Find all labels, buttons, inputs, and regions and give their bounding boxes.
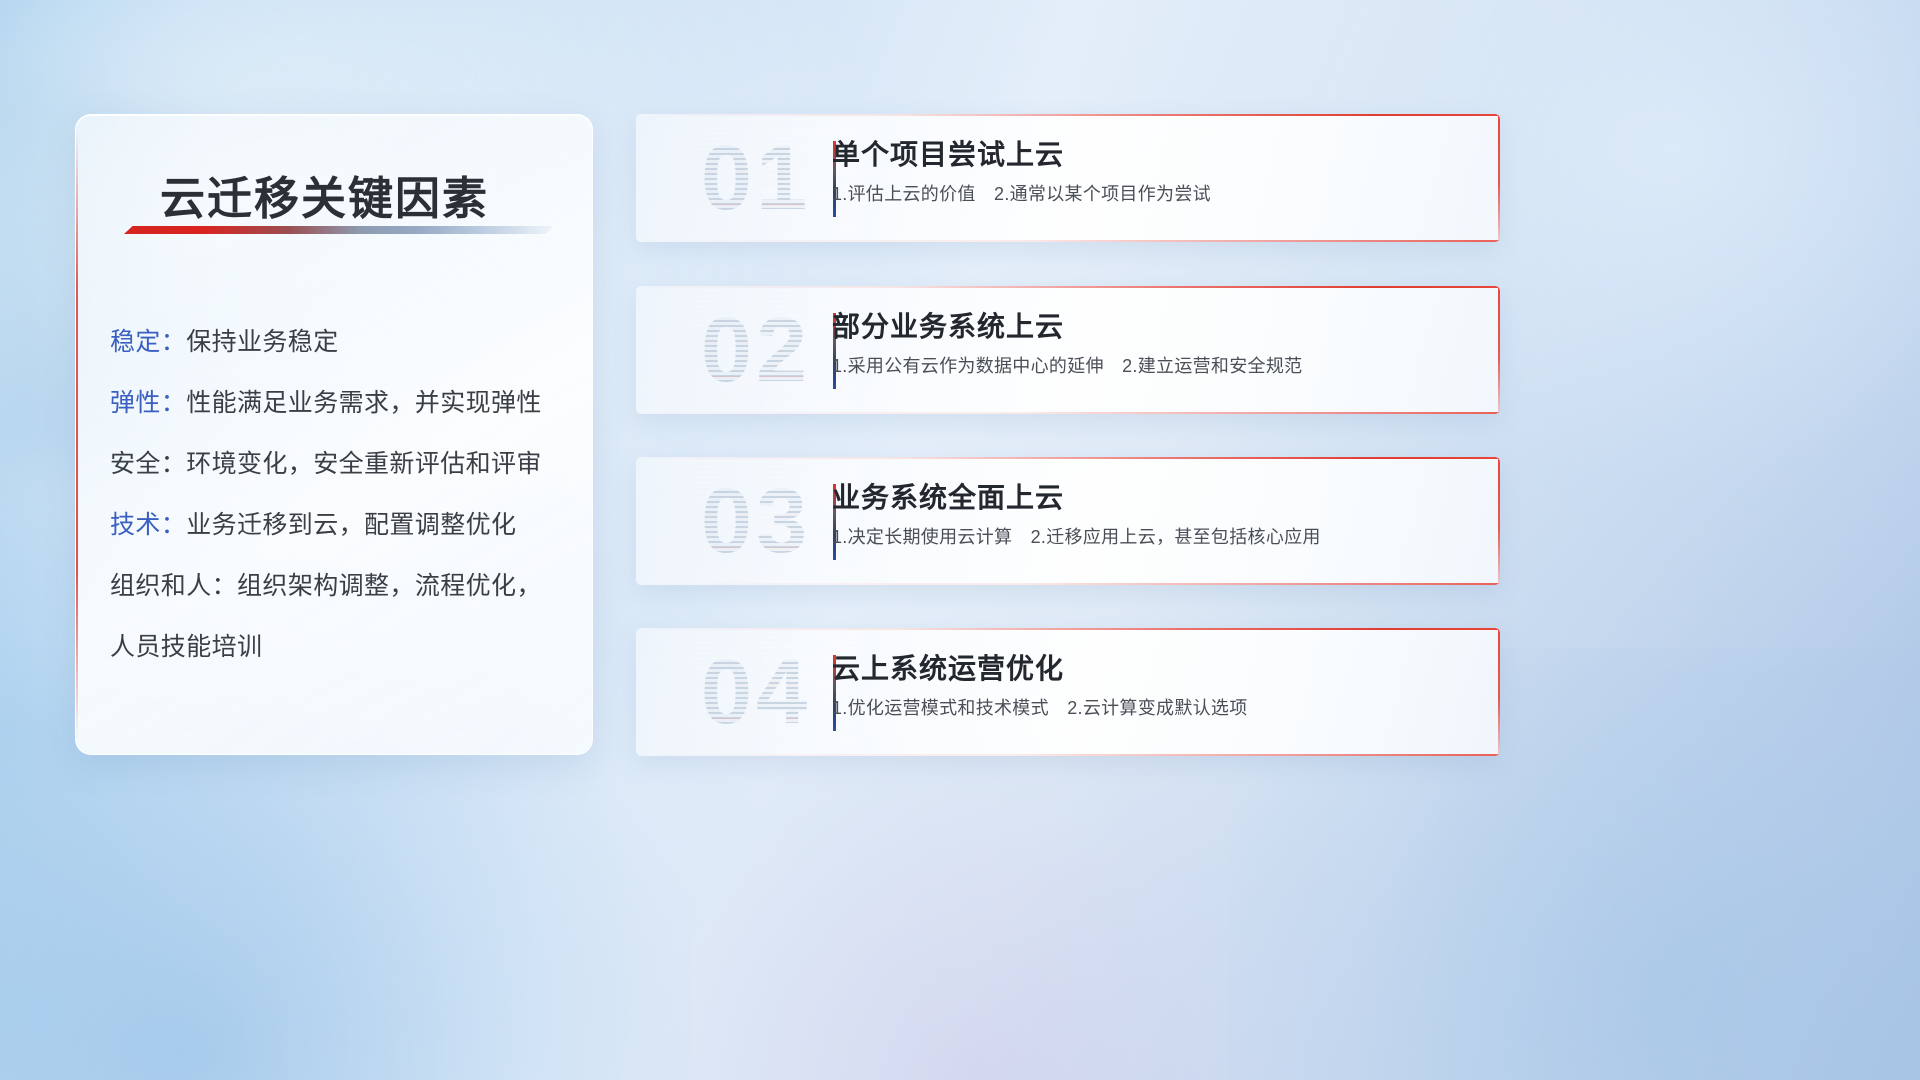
step-description: 1.评估上云的价值 2.通常以某个项目作为尝试: [832, 181, 1476, 207]
step-title: 业务系统全面上云: [832, 479, 1476, 517]
step-number-red-overlay: 01: [656, 118, 856, 238]
step-number-watermark: 04 04: [656, 632, 856, 752]
step-card-02[interactable]: 02 02 部分业务系统上云 1.采用公有云作为数据中心的延伸 2.建立运营和安…: [636, 286, 1500, 414]
card-bottom-accent: [636, 754, 1500, 756]
key-factors-panel: 云迁移关键因素 稳定：保持业务稳定 弹性：性能满足业务需求，并实现弹性 安全：环…: [75, 114, 593, 755]
step-title: 部分业务系统上云: [832, 308, 1476, 346]
list-item-label: 稳定：: [110, 328, 186, 356]
card-bottom-accent: [636, 412, 1500, 414]
step-title: 云上系统运营优化: [832, 650, 1476, 688]
list-item-label: 安全：: [110, 450, 186, 478]
list-item-label: 技术：: [110, 511, 186, 539]
step-number-watermark: 03 03: [656, 461, 856, 581]
step-card-04[interactable]: 04 04 云上系统运营优化 1.优化运营模式和技术模式 2.云计算变成默认选项: [636, 628, 1500, 756]
slide-stage: 云迁移关键因素 稳定：保持业务稳定 弹性：性能满足业务需求，并实现弹性 安全：环…: [0, 0, 1920, 1080]
step-number-red-overlay: 03: [656, 461, 856, 581]
step-card-03[interactable]: 03 03 业务系统全面上云 1.决定长期使用云计算 2.迁移应用上云，甚至包括…: [636, 457, 1500, 585]
list-item: 安全：环境变化，安全重新评估和评审: [110, 434, 566, 495]
card-bottom-accent: [636, 240, 1500, 242]
step-content: 单个项目尝试上云 1.评估上云的价值 2.通常以某个项目作为尝试: [832, 136, 1476, 207]
list-item-text: 人员技能培训: [110, 633, 262, 661]
list-item: 弹性：性能满足业务需求，并实现弹性: [110, 373, 566, 434]
list-item-text: 性能满足业务需求，并实现弹性: [186, 389, 542, 417]
page-title: 云迁移关键因素: [160, 162, 489, 227]
step-description: 1.决定长期使用云计算 2.迁移应用上云，甚至包括核心应用: [832, 524, 1476, 550]
step-description: 1.优化运营模式和技术模式 2.云计算变成默认选项: [832, 695, 1476, 721]
step-number-red-overlay: 02: [656, 290, 856, 410]
step-description: 1.采用公有云作为数据中心的延伸 2.建立运营和安全规范: [832, 353, 1476, 379]
list-item-label: 组织和人：: [110, 572, 237, 600]
list-item-text: 保持业务稳定: [186, 328, 338, 356]
list-item: 技术：业务迁移到云，配置调整优化: [110, 495, 566, 556]
card-bottom-accent: [636, 583, 1500, 585]
list-item: 稳定：保持业务稳定: [110, 312, 566, 373]
step-title: 单个项目尝试上云: [832, 136, 1476, 174]
step-content: 云上系统运营优化 1.优化运营模式和技术模式 2.云计算变成默认选项: [832, 650, 1476, 721]
list-item-text: 环境变化，安全重新评估和评审: [186, 450, 542, 478]
step-card-01[interactable]: 01 01 单个项目尝试上云 1.评估上云的价值 2.通常以某个项目作为尝试: [636, 114, 1500, 242]
list-item-text: 组织架构调整，流程优化，: [237, 572, 542, 600]
step-number-watermark: 02 02: [656, 290, 856, 410]
list-item: 组织和人：组织架构调整，流程优化，: [110, 556, 566, 617]
list-item: 人员技能培训: [110, 617, 566, 678]
list-item-text: 业务迁移到云，配置调整优化: [186, 511, 516, 539]
key-factors-list: 稳定：保持业务稳定 弹性：性能满足业务需求，并实现弹性 安全：环境变化，安全重新…: [110, 312, 566, 678]
step-content: 业务系统全面上云 1.决定长期使用云计算 2.迁移应用上云，甚至包括核心应用: [832, 479, 1476, 550]
title-underline-accent: [124, 226, 554, 234]
step-number-watermark: 01 01: [656, 118, 856, 238]
step-number-red-overlay: 04: [656, 632, 856, 752]
list-item-label: 弹性：: [110, 389, 186, 417]
step-content: 部分业务系统上云 1.采用公有云作为数据中心的延伸 2.建立运营和安全规范: [832, 308, 1476, 379]
